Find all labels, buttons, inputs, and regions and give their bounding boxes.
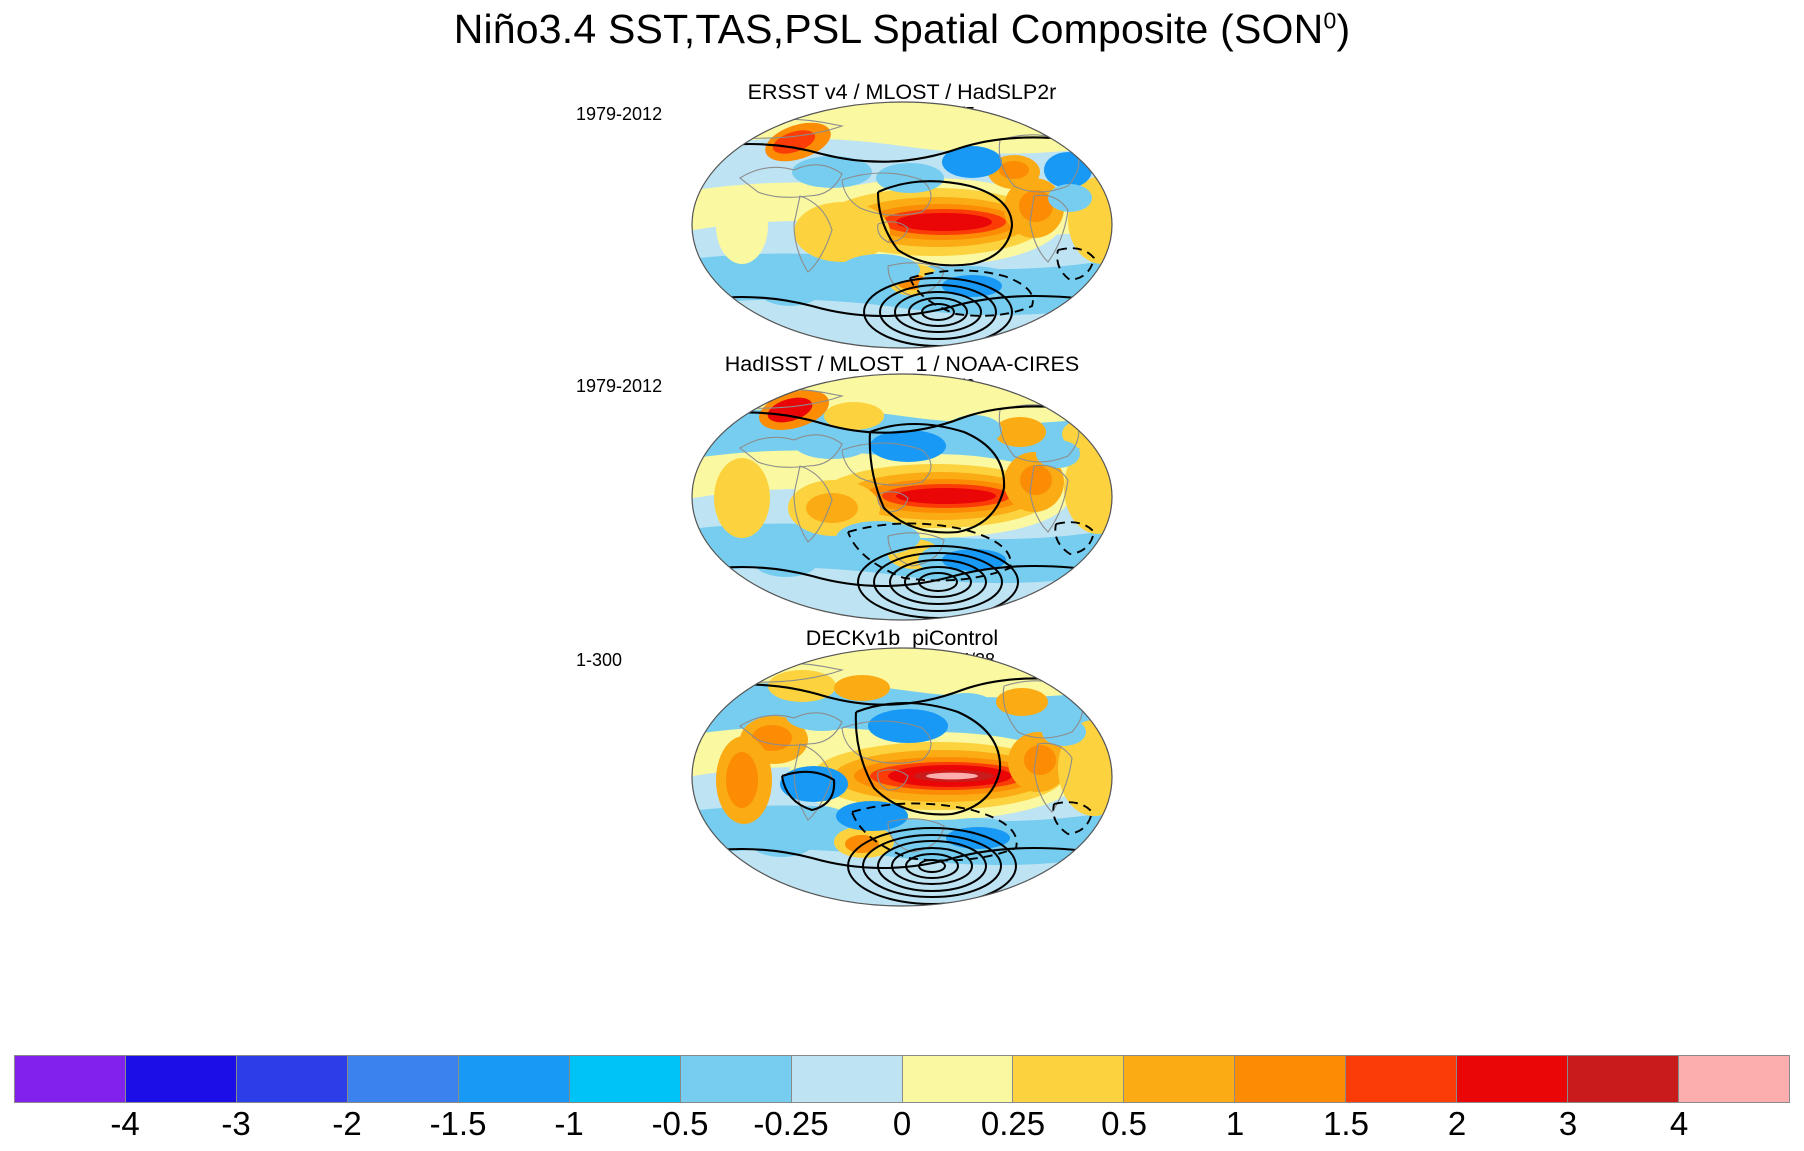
colorbar-tick-13: 3: [1559, 1105, 1577, 1143]
colorbar-tick-2: -2: [332, 1105, 361, 1143]
colorbar-swatch-1: [126, 1056, 237, 1102]
colorbar-swatch-2: [237, 1056, 348, 1102]
colorbar-tick-0: -4: [110, 1105, 139, 1143]
page-title-text: Niño3.4 SST,TAS,PSL Spatial Composite (S…: [454, 6, 1324, 52]
colorbar-tick-9: 0.5: [1101, 1105, 1147, 1143]
colorbar-tick-10: 1: [1226, 1105, 1244, 1143]
colorbar-tick-1: -3: [221, 1105, 250, 1143]
colorbar-tick-12: 2: [1448, 1105, 1466, 1143]
colorbar-swatch-13: [1457, 1056, 1568, 1102]
page-title: Niño3.4 SST,TAS,PSL Spatial Composite (S…: [0, 6, 1804, 53]
colorbar-swatch-6: [681, 1056, 792, 1102]
colorbar-tick-6: -0.25: [753, 1105, 828, 1143]
colorbar-swatch-4: [459, 1056, 570, 1102]
figure-root: Niño3.4 SST,TAS,PSL Spatial Composite (S…: [0, 0, 1804, 1151]
colorbar-tick-5: -0.5: [652, 1105, 709, 1143]
colorbar-swatch-9: [1013, 1056, 1124, 1102]
colorbar-swatch-8: [903, 1056, 1014, 1102]
colorbar-tick-11: 1.5: [1323, 1105, 1369, 1143]
colorbar-swatch-15: [1679, 1056, 1789, 1102]
map-panel-hadisst: HadISST / MLOST_1 / NOAA-CIRES 1979-2012…: [0, 352, 1804, 624]
colorbar-swatch-3: [348, 1056, 459, 1102]
world-map-svg-2: [682, 646, 1122, 908]
colorbar-swatch-5: [570, 1056, 681, 1102]
colorbar-swatches: [14, 1055, 1790, 1103]
colorbar-tick-4: -1: [554, 1105, 583, 1143]
map-canvas-0: [0, 100, 1804, 350]
colorbar-tick-8: 0.25: [981, 1105, 1045, 1143]
page-title-tail: ): [1336, 6, 1350, 52]
colorbar-swatch-12: [1346, 1056, 1457, 1102]
map-panel-deck: DECKv1b_piControl 1-300 44/38: [0, 626, 1804, 916]
page-title-superscript: 0: [1323, 7, 1336, 33]
map-panel-ersst: ERSST v4 / MLOST / HadSLP2r 1979-2012 7/…: [0, 80, 1804, 350]
colorbar-tick-3: -1.5: [430, 1105, 487, 1143]
colorbar-swatch-7: [792, 1056, 903, 1102]
colorbar-tick-7: 0: [893, 1105, 911, 1143]
colorbar-tick-labels: -4-3-2-1.5-1-0.5-0.2500.250.511.5234: [14, 1103, 1790, 1149]
colorbar-swatch-11: [1235, 1056, 1346, 1102]
world-map-svg-1: [682, 372, 1122, 622]
map-canvas-2: [0, 646, 1804, 908]
colorbar-tick-14: 4: [1670, 1105, 1688, 1143]
colorbar: -4-3-2-1.5-1-0.5-0.2500.250.511.5234: [0, 1055, 1804, 1151]
world-map-svg-0: [682, 100, 1122, 350]
colorbar-swatch-0: [15, 1056, 126, 1102]
colorbar-swatch-10: [1124, 1056, 1235, 1102]
colorbar-swatch-14: [1568, 1056, 1679, 1102]
map-canvas-1: [0, 372, 1804, 622]
